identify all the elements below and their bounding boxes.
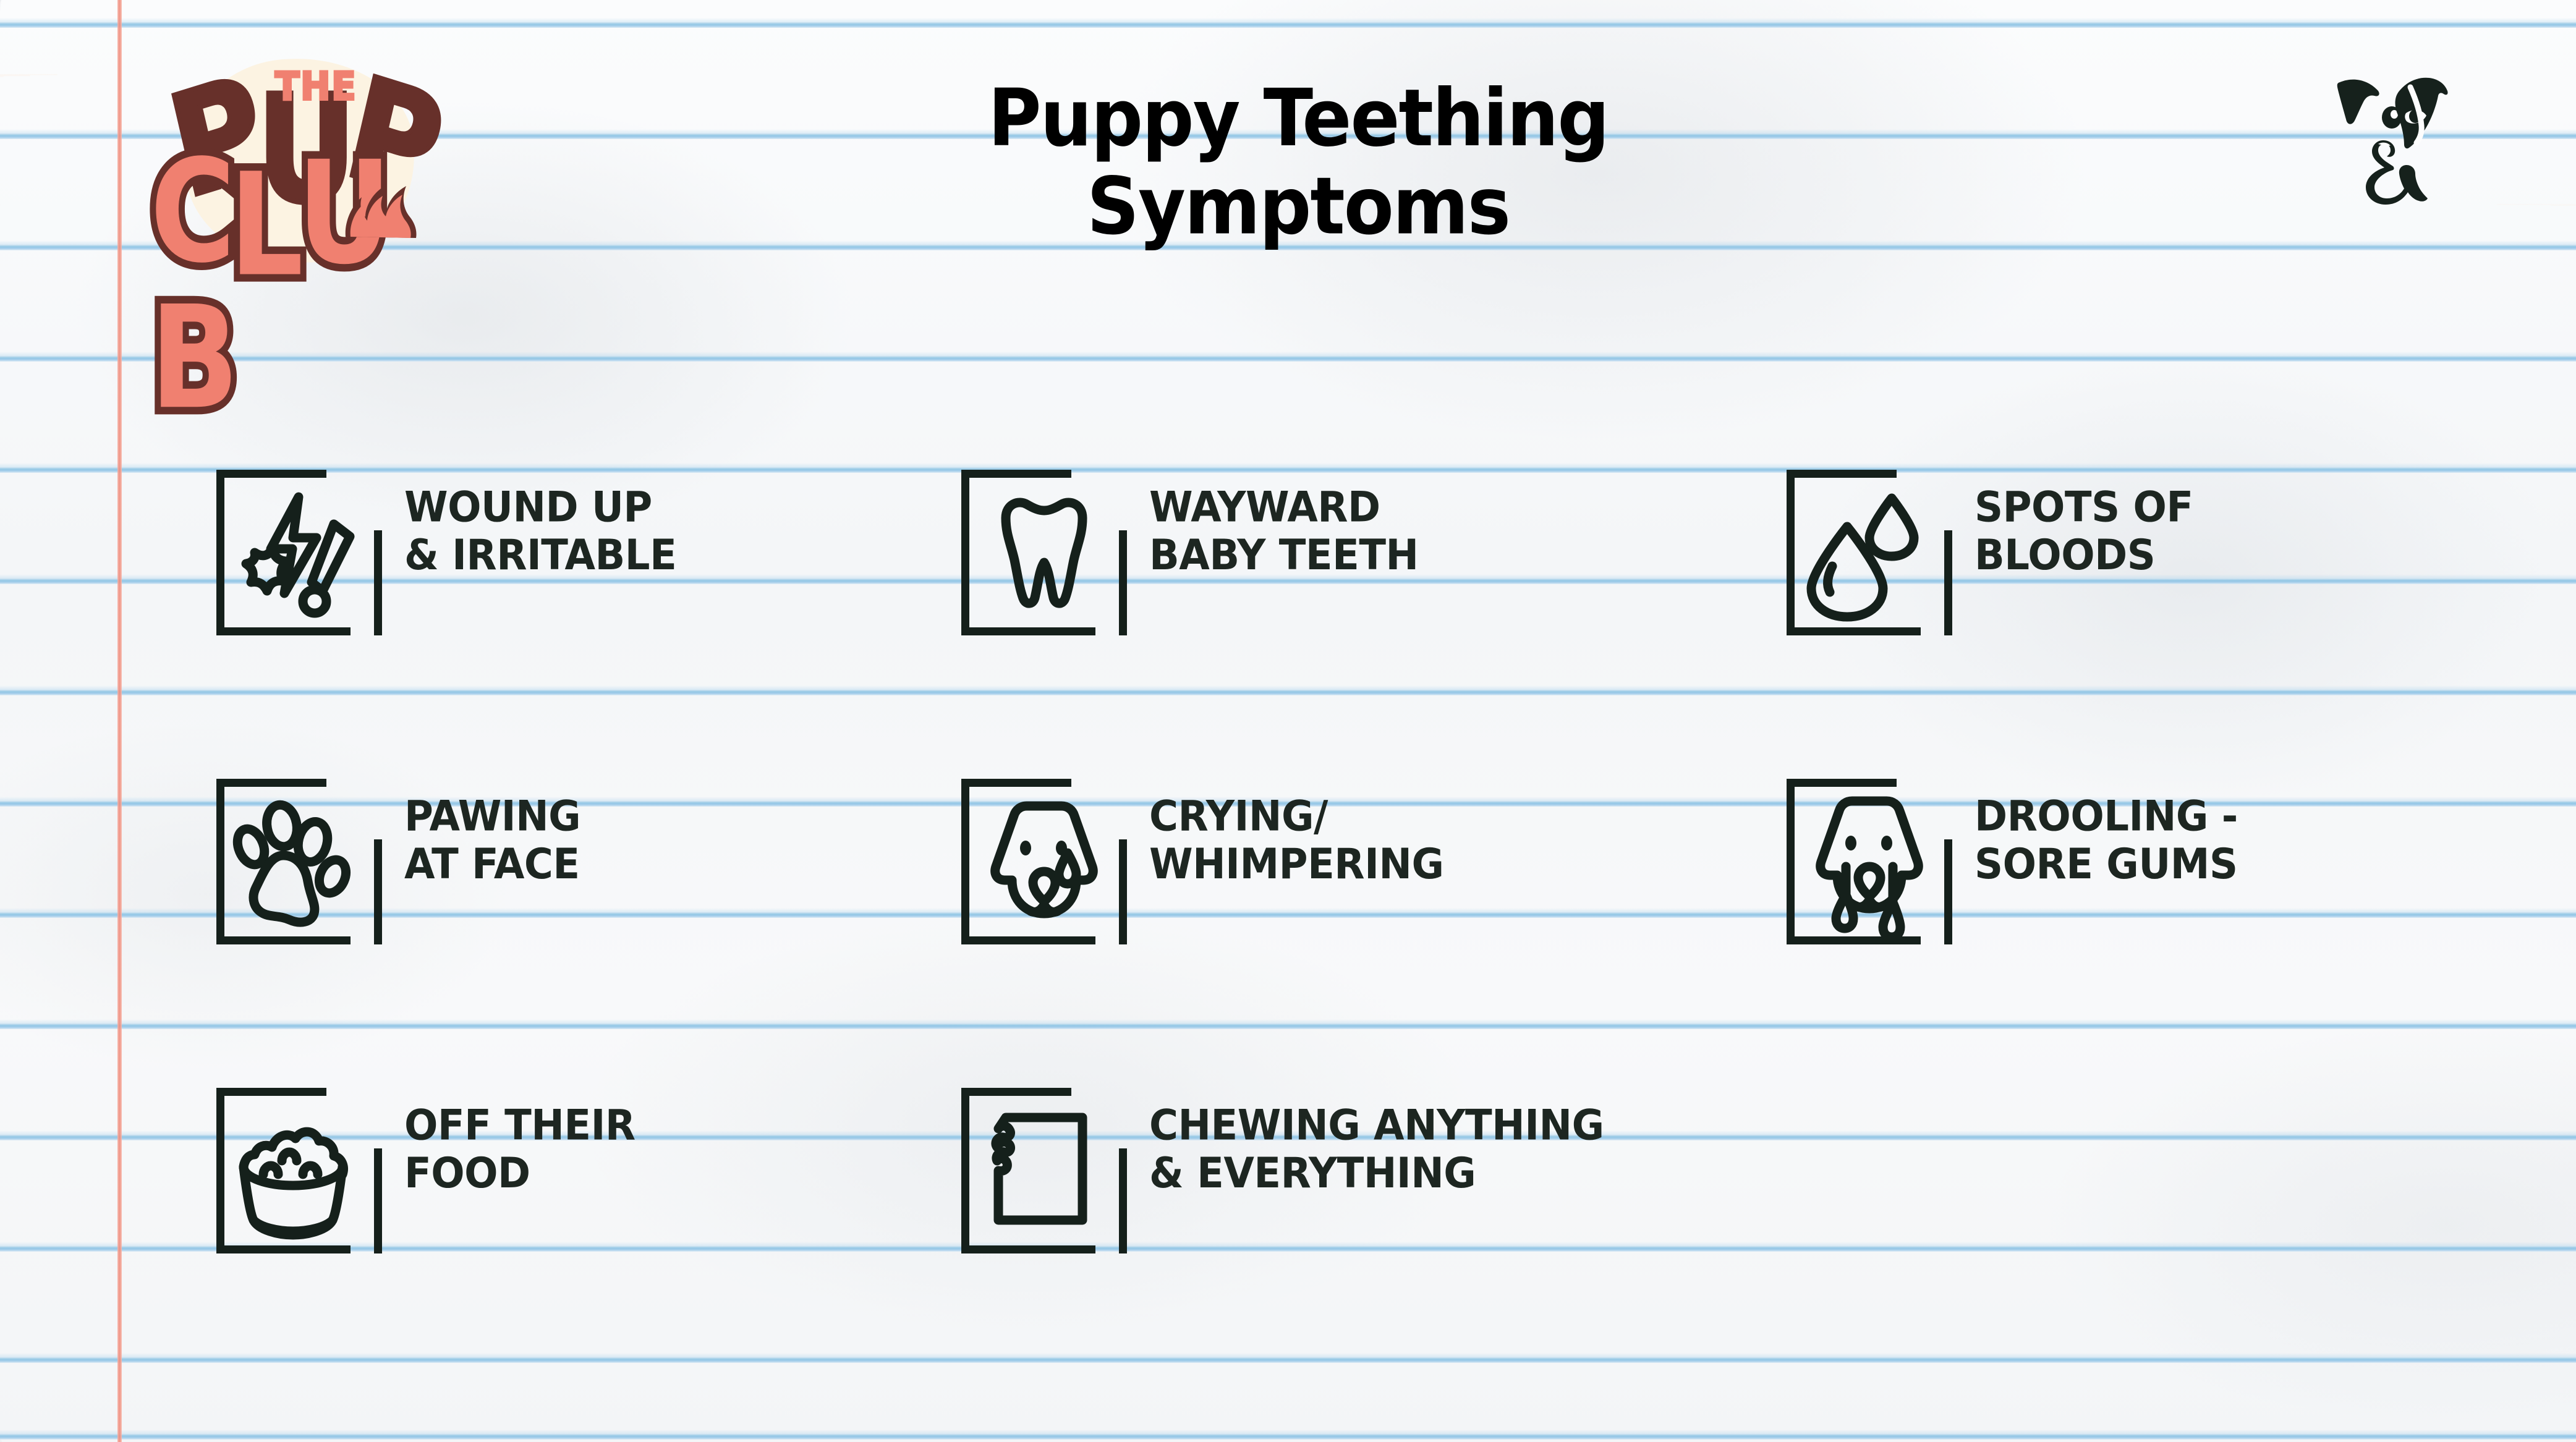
symptom-label: CHEWING ANYTHING & EVERYTHING bbox=[1149, 1088, 1604, 1198]
lightning-exclamation-spark-icon bbox=[216, 470, 382, 635]
dog-face-tear-icon bbox=[961, 779, 1127, 944]
symptom-row: OFF THEIR FOOD CHEWING ANYTHING & EVERYT… bbox=[0, 1088, 2576, 1397]
symptom-row: WOUND UP & IRRITABLE WAYWARD BABY TEETH bbox=[0, 470, 2576, 779]
icon-frame bbox=[1787, 470, 1952, 635]
icon-frame bbox=[961, 1088, 1127, 1253]
paw-print-icon bbox=[216, 779, 382, 944]
page-title: Puppy Teething Symptoms bbox=[878, 74, 1719, 250]
symptom-item-spots-of-bloods[interactable]: SPOTS OF BLOODS bbox=[1787, 470, 2193, 643]
symptom-label: WAYWARD BABY TEETH bbox=[1149, 470, 1419, 580]
icon-frame bbox=[216, 779, 382, 944]
page-title-line1: Puppy Teething bbox=[878, 74, 1719, 162]
dog-food-bowl-icon bbox=[216, 1088, 382, 1253]
icon-frame bbox=[961, 779, 1127, 944]
symptom-item-off-their-food[interactable]: OFF THEIR FOOD bbox=[216, 1088, 635, 1261]
bitten-rectangle-icon bbox=[961, 1088, 1127, 1253]
header: PUP THE CLUB Puppy Teething Symptoms bbox=[0, 0, 2576, 346]
symptom-item-wayward-baby-teeth[interactable]: WAYWARD BABY TEETH bbox=[961, 470, 1419, 643]
pup-club-logo: PUP THE CLUB bbox=[158, 46, 448, 312]
blood-droplets-icon bbox=[1787, 470, 1952, 635]
icon-frame bbox=[1787, 779, 1952, 944]
symptom-grid: WOUND UP & IRRITABLE WAYWARD BABY TEETH bbox=[0, 470, 2576, 1397]
symptom-item-drooling-sore-gums[interactable]: DROOLING - SORE GUMS bbox=[1787, 779, 2238, 952]
symptom-label: DROOLING - SORE GUMS bbox=[1975, 779, 2238, 889]
dog-face-ampersand-logo-icon bbox=[2316, 65, 2465, 210]
symptom-item-crying-whimpering[interactable]: CRYING/ WHIMPERING bbox=[961, 779, 1443, 952]
icon-frame bbox=[961, 470, 1127, 635]
symptom-item-chewing-anything-everything[interactable]: CHEWING ANYTHING & EVERYTHING bbox=[961, 1088, 1604, 1261]
icon-frame bbox=[216, 470, 382, 635]
symptom-label: SPOTS OF BLOODS bbox=[1975, 470, 2193, 580]
dog-face-drool-icon bbox=[1787, 779, 1952, 944]
page-title-line2: Symptoms bbox=[878, 162, 1719, 250]
symptom-label: OFF THEIR FOOD bbox=[404, 1088, 635, 1198]
symptom-label: WOUND UP & IRRITABLE bbox=[404, 470, 676, 580]
symptom-row: PAWING AT FACE CRYIN bbox=[0, 779, 2576, 1088]
symptom-item-pawing-at-face[interactable]: PAWING AT FACE bbox=[216, 779, 580, 952]
logo-the-text: THE bbox=[275, 64, 357, 109]
symptom-label: CRYING/ WHIMPERING bbox=[1149, 779, 1443, 889]
icon-frame bbox=[216, 1088, 382, 1253]
symptom-item-wound-up-irritable[interactable]: WOUND UP & IRRITABLE bbox=[216, 470, 676, 643]
symptom-label: PAWING AT FACE bbox=[404, 779, 580, 889]
paw-claw-icon bbox=[341, 180, 421, 248]
tooth-icon bbox=[961, 470, 1127, 635]
